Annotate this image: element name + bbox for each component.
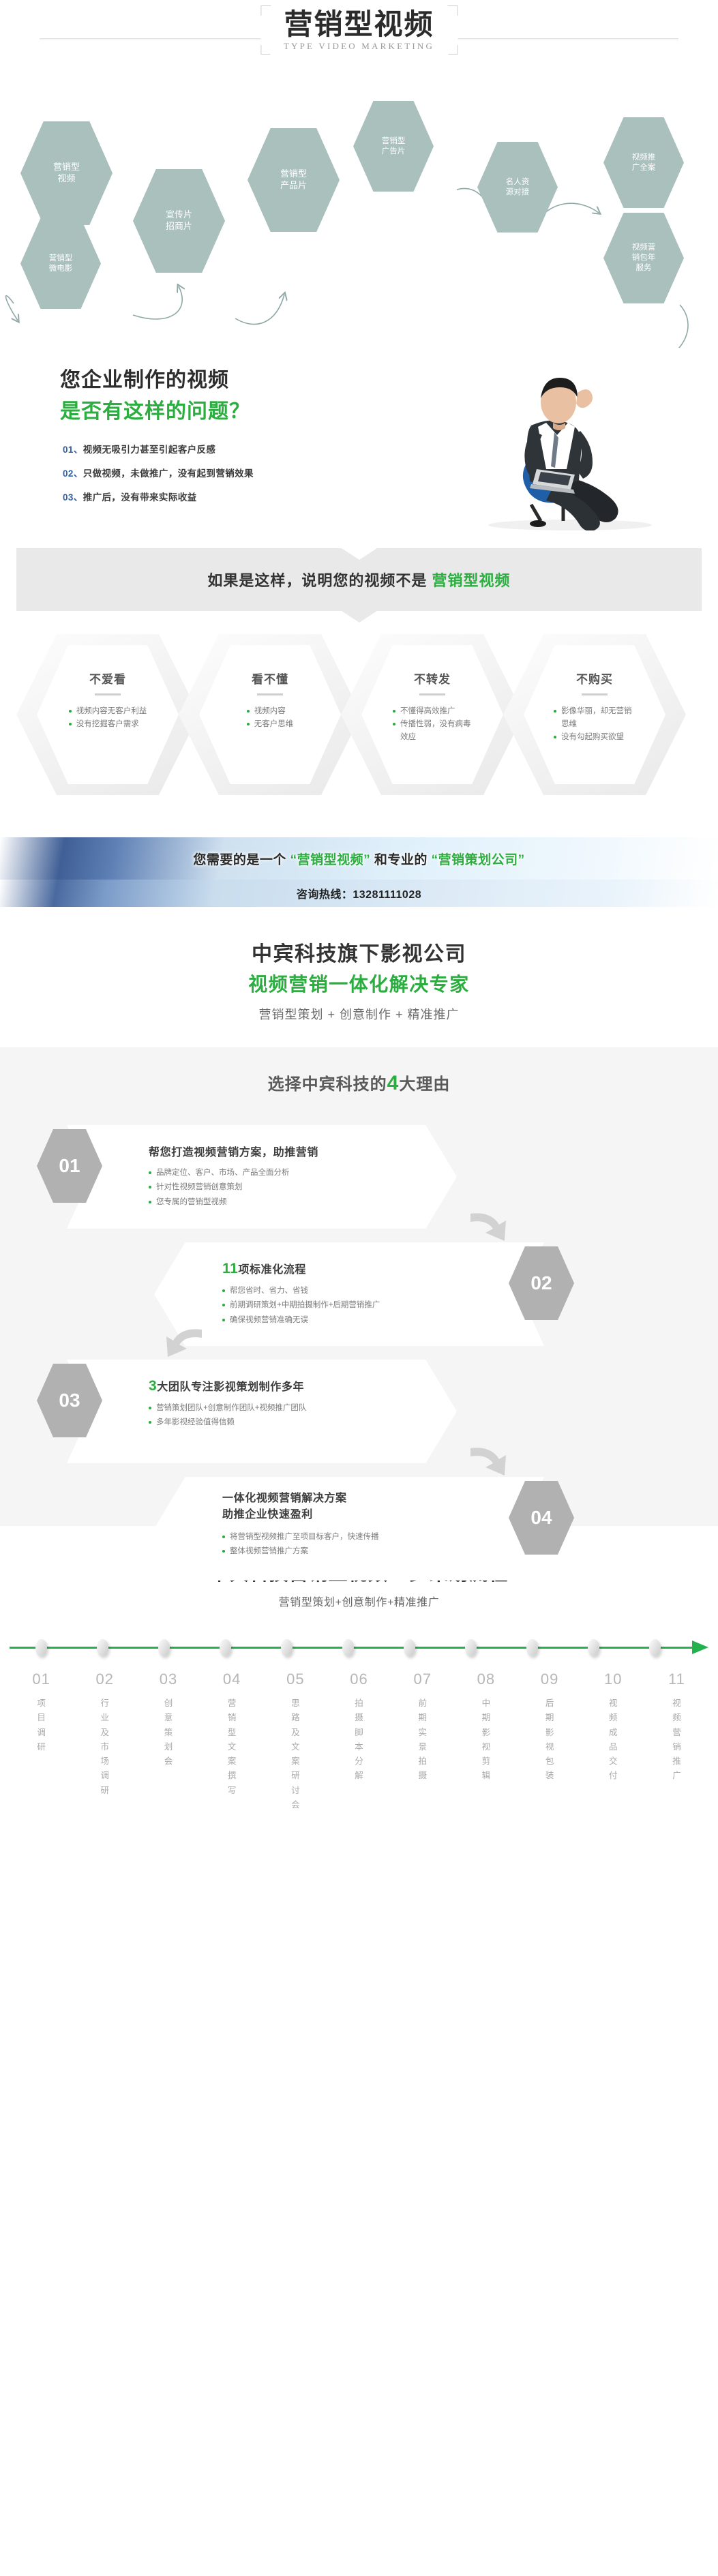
flow-step-10-number: 10	[582, 1671, 645, 1688]
reason-card-02-bullet: 确保视频营销准确无误	[222, 1313, 380, 1328]
problem-hex-1-bullet: 没有挖掘客户需求	[69, 718, 147, 731]
blue-text-a: 您需要的是一个	[193, 853, 290, 867]
company-tagline: 视频营销一体化解决专家	[0, 970, 718, 997]
flow-dot	[342, 1639, 354, 1656]
marketing-landing-page: 营销型视频 TYPE VIDEO MARKETING 营销型 视频 营销型 微电…	[0, 0, 718, 1840]
reasons-title: 选择中宾科技的4大理由	[0, 1070, 718, 1095]
reason-card-04-bullet: 将营销型视频推广至项目标客户，快速传播	[222, 1530, 379, 1544]
problem-hex-2-title: 看不懂	[179, 670, 361, 687]
reason-card-01[interactable]: 01 帮您打造视频营销方案，助推营销 品牌定位、客户、市场、产品全面分析 针对性…	[67, 1125, 457, 1229]
blue-text-d: “营销策划公司”	[432, 853, 525, 867]
company-intro-section: 中宾科技旗下影视公司 视频营销一体化解决专家 营销型策划 + 创意制作 + 精准…	[0, 907, 718, 1023]
reason-card-04-heading: 一体化视频营销解决方案 助推企业快速盈利	[222, 1491, 379, 1523]
flow-step-10-label: 视频成品交付	[608, 1696, 618, 1784]
hex-service-3[interactable]: 宣传片 招商片	[133, 169, 225, 273]
flow-step-04-label: 营销型文案撰写	[227, 1696, 237, 1798]
flow-step-09[interactable]: 09 后期影视包装	[518, 1671, 582, 1812]
flow-step-07[interactable]: 07 前期实景拍摄	[391, 1671, 454, 1812]
flow-step-03-number: 03	[136, 1671, 200, 1688]
flow-step-06-label: 拍摄脚本分解	[355, 1696, 364, 1784]
reason-card-01-bullet: 品牌定位、客户、市场、产品全面分析	[149, 1166, 318, 1180]
reasons-title-a: 选择中宾科技的	[268, 1075, 387, 1094]
hex-service-6-label: 名人资 源对接	[506, 177, 530, 197]
problem-hex-3-bullet: 不懂得高效推广	[393, 705, 472, 718]
hex-service-5[interactable]: 营销型 广告片	[353, 101, 434, 192]
flow-step-09-label: 后期影视包装	[545, 1696, 554, 1784]
company-services: 营销型策划 + 创意制作 + 精准推广	[0, 1005, 718, 1023]
divider	[419, 693, 445, 695]
company-name: 中宾科技旗下影视公司	[0, 937, 718, 967]
reason-card-02[interactable]: 02 11项标准化流程 帮您省时、省力、省钱 前期调研策划+中期拍摄制作+后期营…	[154, 1242, 544, 1346]
header-title-box: 营销型视频 TYPE VIDEO MARKETING	[260, 5, 458, 55]
flow-step-02-number: 02	[73, 1671, 136, 1688]
reasons-title-number: 4	[387, 1072, 400, 1094]
flow-step-11-number: 11	[645, 1671, 708, 1688]
hex-service-7-label: 视频推 广全案	[632, 153, 656, 173]
problem-hex-3-title: 不转发	[341, 670, 524, 687]
flow-steps: 01 项目调研 02 行业及市场调研 03 创意策划会 04 营销型文案撰写 0…	[10, 1671, 708, 1812]
flow-step-01-label: 项目调研	[37, 1696, 46, 1754]
flow-dot	[220, 1639, 231, 1656]
flow-dot	[97, 1639, 108, 1656]
flow-dot	[35, 1639, 47, 1656]
problem-hex-1-bullet: 视频内容无客户利益	[69, 705, 147, 718]
flow-step-11-label: 视频营销推广	[672, 1696, 681, 1784]
blue-text-c: 和专业的	[370, 853, 432, 867]
divider	[582, 693, 608, 695]
reason-card-04[interactable]: 04 一体化视频营销解决方案 助推企业快速盈利 将营销型视频推广至项目标客户，快…	[154, 1477, 544, 1581]
reason-cards: 01 帮您打造视频营销方案，助推营销 品牌定位、客户、市场、产品全面分析 针对性…	[0, 1113, 718, 1495]
reason-card-03-heading-number: 3	[149, 1378, 157, 1394]
flow-dot	[526, 1639, 538, 1656]
flow-step-06[interactable]: 06 拍摄脚本分解	[327, 1671, 391, 1812]
ribbon-text: 如果是这样，说明您的视频不是 营销型视频	[207, 569, 510, 590]
problem-item-text: 只做视频，未做推广，没有起到营销效果	[83, 468, 254, 479]
hex-service-4[interactable]: 营销型 产品片	[248, 128, 340, 232]
problem-hex-1[interactable]: 不爱看 视频内容无客户利益 没有挖掘客户需求	[16, 634, 199, 795]
hex-service-6[interactable]: 名人资 源对接	[477, 142, 558, 233]
grey-ribbon-banner: 如果是这样，说明您的视频不是 营销型视频	[16, 548, 702, 611]
flow-step-05-label: 思路及文案研讨会	[290, 1696, 300, 1812]
reason-card-01-heading: 帮您打造视频营销方案，助推营销	[149, 1143, 318, 1159]
reason-card-03-bullet: 多年影视经验值得信赖	[149, 1416, 306, 1430]
four-problem-hexagons: 不爱看 视频内容无客户利益 没有挖掘客户需求 看不懂 视频内容 无客户思维	[0, 634, 718, 811]
service-hexagon-map: 营销型 视频 营销型 微电影 宣传片 招商片 营销型 产品片 营销型 广告片 名…	[0, 89, 718, 348]
hex-service-2[interactable]: 营销型 微电影	[20, 218, 101, 309]
flow-step-07-number: 07	[391, 1671, 454, 1688]
problem-hex-4-title: 不购买	[503, 670, 686, 687]
reasons-title-b: 大理由	[399, 1075, 450, 1094]
hex-service-1[interactable]: 营销型 视频	[20, 121, 113, 225]
problem-hex-4-bullet: 没有勾起购买欲望	[554, 731, 635, 744]
problem-hex-2[interactable]: 看不懂 视频内容 无客户思维	[179, 634, 361, 795]
businessman-photo	[451, 360, 676, 530]
blue-banner-row1: 您需要的是一个 “营销型视频” 和专业的 “营销策划公司”	[0, 837, 718, 880]
hex-service-7[interactable]: 视频推 广全案	[603, 117, 684, 208]
reason-card-03-heading-text: 大团队专注影视策划制作多年	[157, 1381, 304, 1393]
problem-item-text: 推广后，没有带来实际收益	[83, 492, 197, 503]
problem-item-number: 01、	[63, 445, 83, 455]
hex-service-3-label: 宣传片 招商片	[166, 209, 192, 232]
flow-subtitle: 营销型策划+创意制作+精准推广	[0, 1593, 718, 1609]
reason-card-02-heading-text: 项标准化流程	[238, 1264, 306, 1276]
reason-card-02-bullet: 帮您省时、省力、省钱	[222, 1284, 380, 1298]
reason-card-01-number: 01	[59, 1155, 80, 1177]
ribbon-text-accent: 营销型视频	[432, 572, 511, 589]
flow-step-06-number: 06	[327, 1671, 391, 1688]
flow-step-04[interactable]: 04 营销型文案撰写	[200, 1671, 264, 1812]
reason-card-02-number: 02	[530, 1272, 552, 1294]
problem-item-text: 视频无吸引力甚至引起客户反感	[83, 445, 216, 455]
reason-card-02-heading-number: 11	[222, 1261, 238, 1276]
page-header: 营销型视频 TYPE VIDEO MARKETING	[0, 0, 718, 89]
blue-text-b: “营销型视频”	[290, 853, 371, 867]
flow-step-02-label: 行业及市场调研	[100, 1696, 110, 1798]
hex-service-1-label: 营销型 视频	[53, 162, 80, 184]
flow-step-02[interactable]: 02 行业及市场调研	[73, 1671, 136, 1812]
flow-step-05-number: 05	[264, 1671, 327, 1688]
flow-step-10[interactable]: 10 视频成品交付	[582, 1671, 645, 1812]
flow-step-01[interactable]: 01 项目调研	[10, 1671, 73, 1812]
problem-item-number: 03、	[63, 492, 83, 503]
problem-hex-3[interactable]: 不转发 不懂得高效推广 传播性弱，没有病毒效应	[341, 634, 524, 795]
page-subtitle-en: TYPE VIDEO MARKETING	[284, 41, 434, 52]
flow-step-01-number: 01	[10, 1671, 73, 1688]
flow-step-11[interactable]: 11 视频营销推广	[645, 1671, 708, 1812]
flow-dot	[465, 1639, 477, 1656]
flow-dot	[649, 1639, 661, 1656]
reason-card-03-bullet: 营销策划团队+创意制作团队+视频推广团队	[149, 1401, 306, 1416]
flow-step-03[interactable]: 03 创意策划会	[136, 1671, 200, 1812]
hex-connector-arrows	[0, 89, 718, 348]
blue-cta-banner: 您需要的是一个 “营销型视频” 和专业的 “营销策划公司” 咨询热线：13281…	[0, 837, 718, 907]
flow-rail	[10, 1636, 708, 1660]
reason-card-01-bullet: 针对性视频营销创意策划	[149, 1180, 318, 1195]
flow-step-03-label: 创意策划会	[164, 1696, 173, 1769]
reason-card-03-number: 03	[59, 1390, 80, 1411]
problem-hex-1-title: 不爱看	[16, 670, 199, 687]
problem-hex-3-bullet: 传播性弱，没有病毒效应	[393, 718, 472, 744]
problem-section: 您企业制作的视频 是否有这样的问题？ 01、视频无吸引力甚至引起客户反感 02、…	[0, 348, 718, 532]
reason-card-02-heading: 11项标准化流程	[222, 1260, 380, 1277]
flow-dot	[404, 1639, 415, 1656]
flow-step-08-number: 08	[454, 1671, 518, 1688]
flow-step-04-number: 04	[200, 1671, 264, 1688]
blue-banner-text: 您需要的是一个 “营销型视频” 和专业的 “营销策划公司”	[193, 850, 524, 868]
hex-service-8[interactable]: 视频营 销包年 服务	[603, 213, 684, 303]
reason-card-03-heading: 3大团队专注影视策划制作多年	[149, 1377, 306, 1394]
divider	[257, 693, 283, 695]
ribbon-text-plain: 如果是这样，说明您的视频不是	[207, 572, 432, 589]
hex-service-2-label: 营销型 微电影	[49, 254, 73, 273]
problem-hex-4-bullet: 影像华丽，却无营销思维	[554, 705, 635, 731]
hotline-text[interactable]: 咨询热线：13281111028	[297, 885, 421, 901]
problem-hex-4[interactable]: 不购买 影像华丽，却无营销思维 没有勾起购买欲望	[503, 634, 686, 795]
reason-card-03[interactable]: 03 3大团队专注影视策划制作多年 营销策划团队+创意制作团队+视频推广团队 多…	[67, 1360, 457, 1463]
page-title: 营销型视频	[284, 8, 434, 40]
divider	[95, 693, 121, 695]
reasons-section: 选择中宾科技的4大理由 01 帮您打造视频营销方案，助推营销 品牌定位、客户、市…	[0, 1047, 718, 1526]
flow-step-05[interactable]: 05 思路及文案研讨会	[264, 1671, 327, 1812]
hex-service-5-label: 营销型 广告片	[382, 136, 406, 156]
flow-step-07-label: 前期实景拍摄	[418, 1696, 428, 1784]
blue-banner-row2: 咨询热线：13281111028	[0, 880, 718, 907]
hex-service-4-label: 营销型 产品片	[280, 168, 307, 191]
reason-card-02-bullet: 前期调研策划+中期拍摄制作+后期营销推广	[222, 1298, 380, 1313]
problem-hex-2-bullet: 无客户思维	[247, 718, 294, 731]
flow-step-09-number: 09	[518, 1671, 582, 1688]
reason-card-04-number: 04	[530, 1507, 552, 1529]
flow-dot	[158, 1639, 170, 1656]
flow-rail-arrow-icon	[692, 1641, 708, 1654]
flow-step-08-label: 中期影视剪辑	[481, 1696, 491, 1784]
flow-step-08[interactable]: 08 中期影视剪辑	[454, 1671, 518, 1812]
flow-dot	[281, 1639, 293, 1656]
problem-hex-2-bullet: 视频内容	[247, 705, 294, 718]
flow-dot	[588, 1639, 599, 1656]
problem-item-number: 02、	[63, 468, 83, 479]
reason-card-01-bullet: 您专属的营销型视频	[149, 1195, 318, 1210]
hex-service-8-label: 视频营 销包年 服务	[632, 243, 656, 273]
reason-card-04-bullet: 整体视频营销推广方案	[222, 1544, 379, 1559]
